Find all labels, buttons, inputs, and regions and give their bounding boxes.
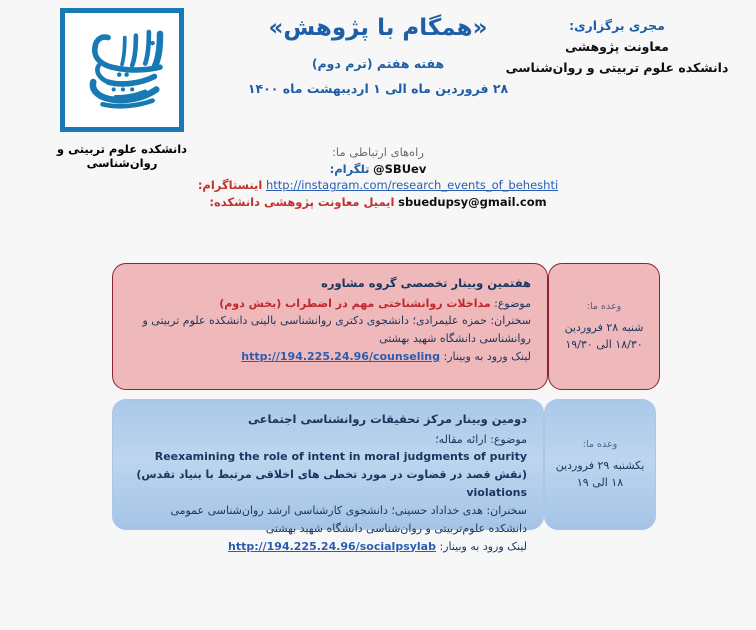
organizer-block: مجری برگزاری: معاونت پژوهشی دانشکده علوم…: [492, 18, 742, 75]
webinar-1-join-link[interactable]: http://194.225.24.96/counseling: [241, 348, 440, 366]
organizer-line-2: دانشکده علوم تربیتی و روان‌شناسی: [492, 60, 742, 75]
webinar-2-speaker-row: سخنران: هدی خداداد حسینی؛ دانشجوی کارشنا…: [129, 502, 527, 538]
webinar-1-speaker-label: سخنران:: [490, 314, 531, 327]
contact-row-instagram: http://instagram.com/research_events_of_…: [0, 177, 756, 194]
webinar-2-link-label: لینک ورود به وبینار:: [439, 540, 527, 553]
webinar-2-topic-row-1: موضوع: ارائه مقاله؛ Reexamining the role…: [129, 431, 527, 467]
webinar-1-speaker-value: حمزه علیمرادی؛ دانشجوی دکتری روانشناسی ب…: [142, 314, 531, 345]
webinar-1-link-row: لینک ورود به وبینار: http://194.225.24.9…: [129, 348, 531, 366]
webinar-2-topic-label: موضوع: ارائه مقاله؛: [435, 433, 527, 446]
date-range: ۲۸ فروردین ماه الی ۱ اردیبهشت ماه ۱۴۰۰: [200, 81, 556, 96]
webinar-2-schedule-label: وعده ما:: [583, 438, 617, 453]
webinar-1-speaker-row: سخنران: حمزه علیمرادی؛ دانشجوی دکتری روا…: [129, 312, 531, 348]
email-label: ایمیل معاونت پژوهشی دانشکده:: [209, 195, 394, 209]
webinar-card-1: هفتمین وبینار تخصصی گروه مشاوره موضوع: م…: [112, 263, 674, 390]
webinar-2-speaker-value: هدی خداداد حسینی؛ دانشجوی کارشناسی ارشد …: [170, 504, 527, 535]
webinar-card-2: دومین وبینار مرکز تحقیقات روانشناسی اجتم…: [112, 399, 670, 530]
contact-heading: راه‌های ارتباطی ما:: [0, 144, 756, 161]
webinar-2-schedule: وعده ما: یکشنبه ۲۹ فروردین ۱۸ الی ۱۹: [544, 399, 656, 530]
webinar-1-topic-row: موضوع: مداخلات روانشناختی مهم در اضطراب …: [129, 295, 531, 313]
webinar-2-schedule-time: ۱۸ الی ۱۹: [577, 474, 623, 491]
organizer-line-1: معاونت پژوهشی: [492, 39, 742, 54]
webinar-2-topic-en-line-2: violations: [466, 484, 527, 502]
webinar-1-schedule-day: شنبه ۲۸ فروردین: [565, 319, 644, 336]
webinar-1-title: هفتمین وبینار تخصصی گروه مشاوره: [129, 274, 531, 293]
contact-row-telegram: @SBUev تلگرام:: [0, 161, 756, 178]
instagram-link[interactable]: http://instagram.com/research_events_of_…: [266, 177, 558, 194]
webinar-2-topic-en-line-1: Reexamining the role of intent in moral …: [155, 448, 527, 466]
telegram-handle[interactable]: @SBUev: [373, 161, 426, 178]
webinar-1-schedule: وعده ما: شنبه ۲۸ فروردین ۱۸/۳۰ الی ۱۹/۳۰: [548, 263, 660, 390]
webinar-2-speaker-label: سخنران:: [486, 504, 527, 517]
organizer-label: مجری برگزاری:: [492, 18, 742, 33]
university-logo-frame: [60, 8, 184, 132]
poster-page: دانشکده علوم تربیتی و روان‌شناسی «همگام …: [0, 0, 756, 630]
webinar-1-schedule-time: ۱۸/۳۰ الی ۱۹/۳۰: [565, 336, 642, 353]
contact-block: راه‌های ارتباطی ما: @SBUev تلگرام: http:…: [0, 144, 756, 211]
webinar-card-2-body: دومین وبینار مرکز تحقیقات روانشناسی اجتم…: [112, 399, 544, 530]
beheshti-calligraphy-icon: [71, 19, 173, 121]
webinar-1-topic-label: موضوع:: [494, 297, 531, 310]
webinar-1-schedule-label: وعده ما:: [587, 300, 621, 315]
webinar-card-1-body: هفتمین وبینار تخصصی گروه مشاوره موضوع: م…: [112, 263, 548, 390]
webinar-2-schedule-day: یکشنبه ۲۹ فروردین: [556, 457, 645, 474]
telegram-label: تلگرام:: [330, 162, 370, 176]
instagram-label: اینستاگرام:: [198, 178, 262, 192]
webinar-1-link-label: لینک ورود به وبینار:: [443, 350, 531, 363]
webinar-2-title: دومین وبینار مرکز تحقیقات روانشناسی اجتم…: [129, 410, 527, 429]
webinar-2-link-row: لینک ورود به وبینار: http://194.225.24.9…: [129, 538, 527, 556]
webinar-2-join-link[interactable]: http://194.225.24.96/socialpsylab: [228, 538, 436, 556]
email-address[interactable]: sbuedupsy@gmail.com: [398, 194, 546, 211]
webinar-2-topic-row-2: (نقش قصد در قضاوت در مورد تخطی های اخلاق…: [129, 466, 527, 502]
webinar-2-topic-fa: (نقش قصد در قضاوت در مورد تخطی های اخلاق…: [136, 468, 527, 481]
contact-row-email: sbuedupsy@gmail.com ایمیل معاونت پژوهشی …: [0, 194, 756, 211]
webinar-1-topic-value: مداخلات روانشناختی مهم در اضطراب (بخش دو…: [219, 297, 490, 310]
